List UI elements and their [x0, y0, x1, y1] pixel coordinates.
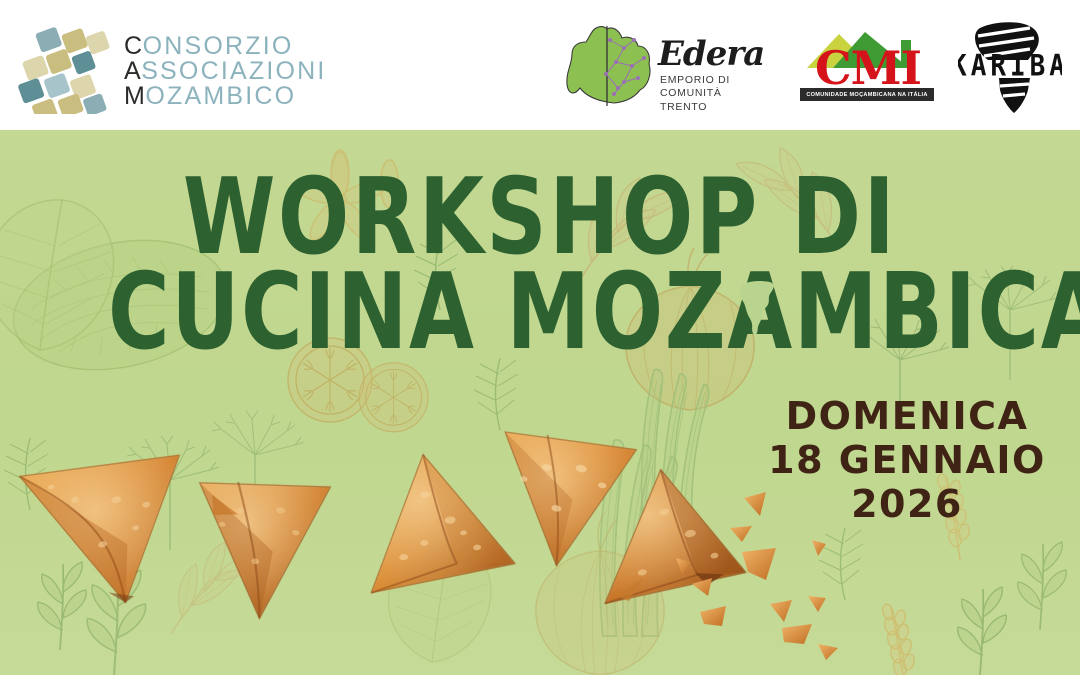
logo-edera[interactable]: Edera EMPORIO DI COMUNITÀ TRENTO [566, 22, 786, 112]
partner-logo-band: CONSORZIO ASSOCIAZIONI MOZAMBICO [0, 0, 1080, 130]
samosa-photo-group [0, 400, 1080, 675]
crumb [782, 624, 812, 644]
logo-cam[interactable]: CONSORZIO ASSOCIAZIONI MOZAMBICO [14, 14, 314, 118]
cam-line-1: CONSORZIO [124, 34, 327, 59]
ivy-leaf-network-icon [566, 24, 652, 106]
logo-cam-wordmark: CONSORZIO ASSOCIAZIONI MOZAMBICO [124, 34, 327, 109]
crumb [744, 492, 766, 516]
samosa-icon [357, 446, 516, 593]
edera-tagline-line-1: EMPORIO DI COMUNITÀ [660, 74, 786, 101]
cam-cap-a: A [124, 57, 141, 85]
cam-rest-ssociazioni: SSOCIAZIONI [141, 57, 326, 85]
crumb [812, 540, 826, 556]
crumb [818, 644, 838, 660]
logo-cmi-banner: COMUNIDADE MOÇAMBICANA NA ITÁLIA [800, 88, 934, 101]
cam-cap-c: C [124, 32, 143, 60]
crumb [700, 606, 726, 626]
crumb [742, 548, 776, 580]
crumb [808, 596, 826, 612]
logo-cmi-wordmark: CMI [803, 45, 933, 91]
logo-kariba-wordmark: KARIBA [958, 48, 1062, 83]
cmi-banner-text: COMUNIDADE MOÇAMBICANA NA ITÁLIA [806, 92, 927, 98]
logo-cmi[interactable]: CMI COMUNIDADE MOÇAMBICANA NA ITÁLIA [797, 28, 937, 106]
samosa-icon [20, 438, 211, 620]
cam-cap-m: M [124, 82, 145, 110]
edera-tagline-line-2: TRENTO [660, 101, 786, 114]
logo-edera-wordmark: Edera [658, 34, 764, 74]
cam-rest-onsorzio: ONSORZIO [143, 32, 294, 60]
poster-canvas: WORKSHOP DI CUCINA MOZA MBICANA DOMENICA… [0, 0, 1080, 675]
logo-edera-tagline: EMPORIO DI COMUNITÀ TRENTO [660, 74, 786, 114]
svg-text:KARIBA: KARIBA [958, 48, 1062, 83]
cam-line-3: MOZAMBICO [124, 84, 327, 109]
crumb [730, 526, 752, 542]
mosaic-tiles-icon [14, 18, 126, 114]
samosa-icon [182, 469, 330, 626]
cam-rest-ozambico: OZAMBICO [145, 82, 296, 110]
crumb [770, 600, 792, 622]
logo-kariba[interactable]: KARIBA [958, 16, 1062, 116]
cam-line-2: ASSOCIAZIONI [124, 59, 327, 84]
